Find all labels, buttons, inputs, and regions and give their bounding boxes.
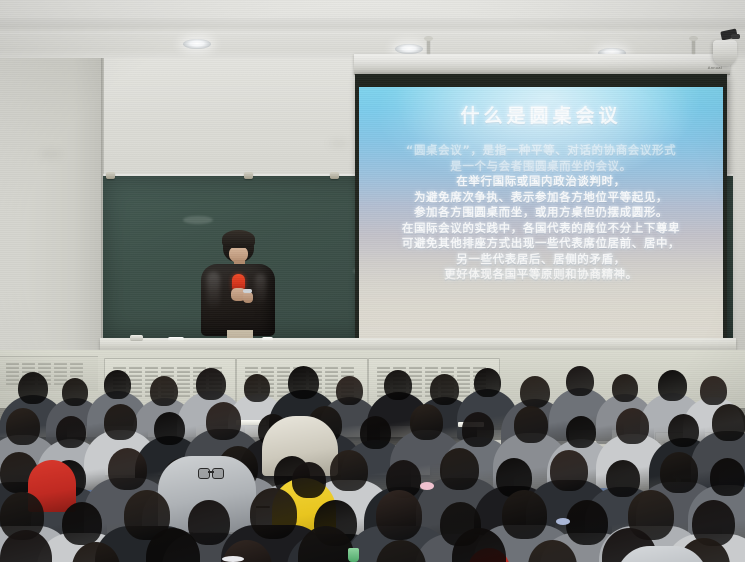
student-head — [566, 366, 594, 396]
slide-line-5: 参加各方围圆桌而坐，或用方桌但仍摆成圆形。 — [359, 205, 723, 221]
projection-screen: 什么是圆桌会议 “圆桌会议”，是指一种平等、对话的协商会议形式是一个与会者围圆桌… — [355, 74, 727, 358]
student-head — [550, 450, 588, 491]
chalkboard-clip-right — [330, 172, 339, 179]
student-head — [430, 374, 459, 405]
student-head — [660, 452, 698, 493]
speaker-body — [713, 40, 737, 66]
presenter-jacket-highlight — [207, 272, 220, 310]
speaker-arm-joint-icon — [731, 34, 740, 39]
student-head — [104, 404, 137, 440]
chalk-tray — [100, 338, 736, 350]
presenter-hair — [222, 230, 255, 248]
student-head — [606, 460, 640, 497]
hair-tie — [222, 556, 244, 562]
student-head — [250, 488, 297, 539]
wall-smudge — [330, 140, 348, 147]
ceiling-beam — [0, 18, 745, 34]
ceiling-downlight-2 — [395, 44, 423, 54]
slide-line-4: 为避免席次争执、表示参加各方地位平等起见， — [359, 190, 723, 206]
slide-line-7: 可避免其他排座方式出现一些代表席位居前、居中， — [359, 236, 723, 252]
wall-smudge — [40, 150, 62, 158]
slide-line-8: 另一些代表居后、居侧的矛盾， — [359, 252, 723, 268]
presenter-jacket-highlight — [255, 274, 266, 306]
slide-line-3: 在举行国际或国内政治谈判时， — [359, 174, 723, 190]
student-head — [154, 412, 185, 445]
chalkboard-clip-mid — [244, 172, 253, 179]
slide-body: “圆桌会议”，是指一种平等、对话的协商会议形式是一个与会者围圆桌而坐的会议。在举… — [359, 143, 723, 283]
slide-line-2: 是一个与会者围圆桌而坐的会议。 — [359, 159, 723, 175]
wall-speaker — [709, 30, 739, 66]
student-presenter — [193, 226, 283, 352]
student-head — [288, 366, 319, 399]
student-head — [376, 490, 422, 540]
student-head — [56, 416, 86, 448]
student-head — [292, 462, 326, 498]
student-head — [104, 370, 131, 399]
presenter-hand-right — [243, 292, 253, 303]
chalk-piece — [168, 337, 184, 341]
ceiling-downlight-1 — [183, 39, 211, 49]
lecture-hall-photo: Annual 什么是圆桌会议 “圆桌会议”，是指一种平等、对话的协商会议形式是一… — [0, 0, 745, 562]
hair-clip — [420, 482, 434, 490]
student-head — [474, 368, 501, 397]
student-head — [700, 376, 727, 405]
student-head — [62, 378, 88, 406]
screen-bracket-right — [692, 40, 695, 54]
student-head — [336, 376, 363, 405]
green-water-bottle — [348, 548, 359, 562]
student-head — [62, 502, 102, 545]
student-head — [440, 448, 479, 490]
projection-screen-surface: 什么是圆桌会议 “圆桌会议”，是指一种平等、对话的协商会议形式是一个与会者围圆桌… — [359, 87, 723, 351]
chalkboard-clip-left — [106, 172, 115, 179]
student-head — [616, 408, 649, 444]
student-head — [514, 406, 548, 443]
slide-title: 什么是圆桌会议 — [359, 101, 723, 128]
wall-left-column — [0, 58, 104, 388]
student-head — [108, 448, 147, 490]
student-head — [668, 414, 699, 447]
student-head — [410, 404, 443, 440]
student-head — [150, 376, 178, 406]
hair-tie — [556, 518, 570, 525]
student-head — [710, 458, 745, 496]
projector-screen-housing: Annual — [354, 54, 730, 75]
student-head — [712, 404, 745, 441]
presenter-wristwatch — [243, 289, 252, 293]
chalk-dust — [183, 216, 213, 224]
student-head — [612, 374, 638, 402]
chalk-piece — [262, 337, 273, 341]
slide-line-9: 更好体现各国平等原则和协商精神。 — [359, 267, 723, 283]
student-head — [6, 408, 40, 445]
student-head — [462, 412, 494, 447]
screen-bracket-left — [427, 40, 430, 54]
student-head — [360, 416, 391, 449]
student-head — [502, 490, 547, 539]
student-head — [566, 500, 608, 545]
student-head — [566, 416, 596, 448]
student-head — [658, 370, 687, 401]
student-head — [196, 368, 226, 400]
student-head — [206, 402, 241, 440]
student-head — [18, 372, 48, 404]
slide-line-6: 在国际会议的实践中，各国代表的席位不分上下尊卑 — [359, 221, 723, 237]
student-head — [520, 376, 550, 408]
eyeglasses-icon — [198, 468, 224, 477]
blackboard-eraser — [130, 335, 143, 341]
student-head — [384, 370, 412, 400]
student-head — [244, 374, 270, 402]
slide-line-1: “圆桌会议”，是指一种平等、对话的协商会议形式 — [359, 143, 723, 159]
student-head — [330, 450, 368, 491]
audience-seating-area — [0, 360, 745, 562]
